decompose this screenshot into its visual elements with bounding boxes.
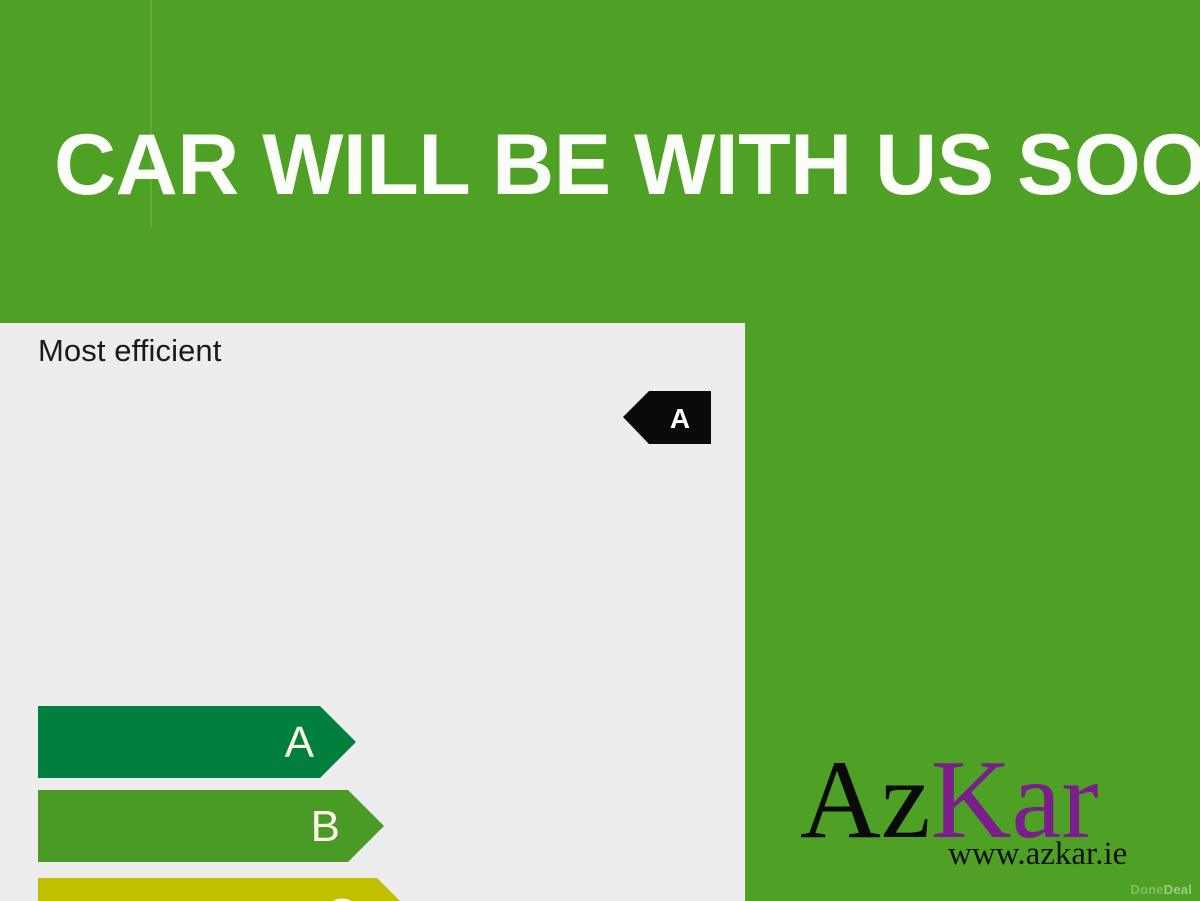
watermark-prefix: Done: [1130, 882, 1163, 897]
watermark-suffix: Deal: [1164, 882, 1192, 897]
page-title: CAR WILL BE WITH US SOON: [54, 113, 1174, 217]
energy-bar-a: A: [38, 706, 356, 778]
energy-bar-a-letter: A: [285, 706, 314, 778]
donedeal-watermark: DoneDeal: [1130, 882, 1192, 897]
current-rating-letter: A: [623, 391, 711, 444]
most-efficient-label: Most efficient: [38, 333, 221, 369]
brand-name-part-1: Az: [800, 738, 931, 862]
brand-logo: AzKar www.azkar.ie: [800, 744, 1160, 876]
energy-bar-b-letter: B: [311, 790, 340, 862]
energy-bar-b: B: [38, 790, 384, 862]
energy-rating-graphic: CAR WILL BE WITH US SOON A B C D: [0, 0, 1200, 901]
brand-website-url: www.azkar.ie: [948, 838, 1127, 871]
energy-bar-c-letter: C: [325, 878, 357, 901]
energy-bar-c: C: [38, 878, 413, 901]
current-rating-badge: A: [623, 391, 711, 444]
